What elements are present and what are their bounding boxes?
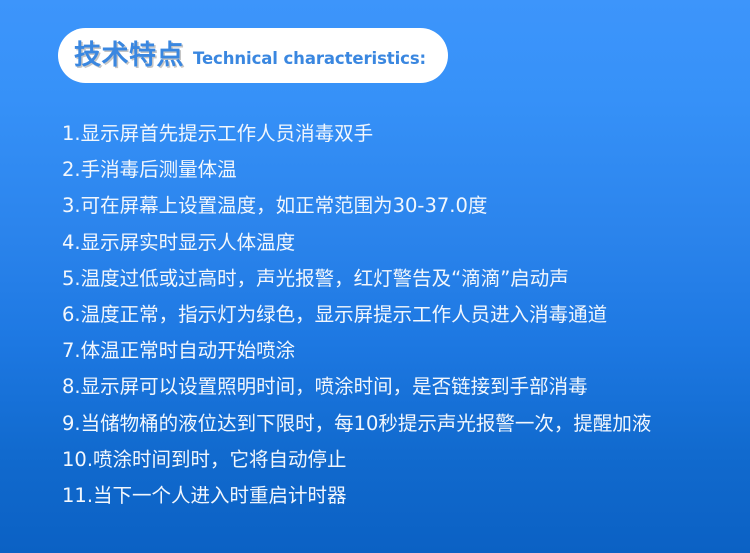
feature-list: 1.显示屏首先提示工作人员消毒双手2.手消毒后测量体温3.可在屏幕上设置温度，如…: [62, 116, 740, 514]
feature-list-item: 4.显示屏实时显示人体温度: [62, 225, 740, 261]
feature-list-item: 2.手消毒后测量体温: [62, 152, 740, 188]
page-title-chinese: 技术特点: [74, 42, 184, 69]
page-title-english: Technical characteristics:: [193, 51, 426, 68]
promo-page: 技术特点 Technical characteristics: 1.显示屏首先提…: [0, 0, 750, 553]
feature-list-item: 7.体温正常时自动开始喷涂: [62, 333, 740, 369]
feature-list-item: 11.当下一个人进入时重启计时器: [62, 478, 740, 514]
feature-list-item: 5.温度过低或过高时，声光报警，红灯警告及“滴滴”启动声: [62, 261, 740, 297]
feature-list-item: 1.显示屏首先提示工作人员消毒双手: [62, 116, 740, 152]
feature-list-item: 8.显示屏可以设置照明时间，喷涂时间，是否链接到手部消毒: [62, 369, 740, 405]
feature-list-item: 3.可在屏幕上设置温度，如正常范围为30-37.0度: [62, 188, 740, 224]
feature-list-item: 6.温度正常，指示灯为绿色，显示屏提示工作人员进入消毒通道: [62, 297, 740, 333]
feature-list-item: 10.喷涂时间到时，它将自动停止: [62, 442, 740, 478]
header-badge: 技术特点 Technical characteristics:: [58, 28, 448, 83]
feature-list-item: 9.当储物桶的液位达到下限时，每10秒提示声光报警一次，提醒加液: [62, 406, 740, 442]
